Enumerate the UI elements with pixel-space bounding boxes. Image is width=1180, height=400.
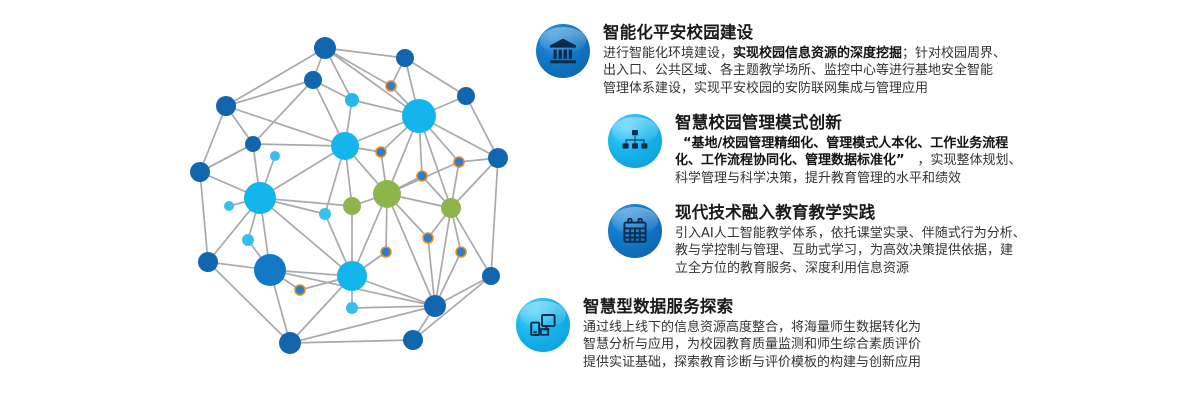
feature-body-line: 提供实证基础，探索教育诊断与评价模板的构建与创新应用 [583, 354, 921, 371]
graph-edge [352, 306, 435, 308]
graph-node [424, 295, 446, 317]
graph-node [386, 81, 396, 91]
graph-node [279, 332, 301, 354]
graph-node [314, 37, 336, 59]
feature-title: 现代技术融入教育教学实践 [675, 203, 1026, 223]
feature-body-line: “基地/校园管理精细化、管理模式人本化、工作业务流程 [675, 135, 1022, 152]
graph-node [295, 285, 305, 295]
graph-node [343, 197, 361, 215]
graph-node [381, 247, 391, 257]
graph-node [242, 234, 254, 246]
network-node-graph [180, 18, 510, 382]
graph-edge [290, 340, 413, 343]
graph-edge [387, 194, 435, 306]
feature-block-modern-technology[interactable]: 现代技术融入教育教学实践 引入AI人工智能教学体系，依托课堂实录、伴随式行为分析… [608, 202, 1026, 277]
graph-edge [200, 106, 226, 172]
graph-node [456, 247, 466, 257]
feature-text: 智能化平安校园建设 进行智能化环境建设，实现校园信息资源的深度挖掘；针对校园周界… [603, 22, 1006, 97]
graph-edge [405, 58, 466, 96]
feature-body-line: 出入口、公共区域、各主题教学场所、监控中心等进行基地安全智能 [603, 62, 1006, 79]
graph-node [198, 252, 218, 272]
graph-node [376, 147, 386, 157]
graph-node [396, 49, 414, 67]
graph-node [454, 157, 464, 167]
feature-body: 通过线上线下的信息资源高度整合，将海量师生数据转化为智慧分析与应用，为校园教育质… [583, 319, 921, 371]
feature-body: 引入AI人工智能教学体系，依托课堂实录、伴随式行为分析、教与学控制与管理、互助式… [675, 225, 1026, 277]
graph-node [244, 182, 276, 214]
feature-title: 智慧型数据服务探索 [583, 297, 921, 317]
graph-node [373, 180, 401, 208]
feature-body-line: 引入AI人工智能教学体系，依托课堂实录、伴随式行为分析、 [675, 225, 1026, 242]
graph-edge [451, 208, 491, 276]
calendar-icon [608, 204, 662, 258]
graph-node [331, 132, 359, 160]
feature-block-data-service[interactable]: 智慧型数据服务探索 通过线上线下的信息资源高度整合，将海量师生数据转化为智慧分析… [516, 296, 921, 371]
feature-body-line: 智慧分析与应用，为校园教育质量监测和师生综合素质评价 [583, 336, 921, 353]
graph-node [319, 208, 331, 220]
feature-body-line: 通过线上线下的信息资源高度整合，将海量师生数据转化为 [583, 319, 921, 336]
graph-node [482, 267, 500, 285]
feature-block-management-innovation[interactable]: 智慧校园管理模式创新 “基地/校园管理精细化、管理模式人本化、工作业务流程化、工… [608, 112, 1022, 187]
feature-text: 智慧校园管理模式创新 “基地/校园管理精细化、管理模式人本化、工作业务流程化、工… [675, 112, 1022, 187]
graph-node [345, 93, 359, 107]
graph-node [224, 201, 234, 211]
graph-node [337, 261, 367, 291]
feature-body-line: 管理体系建设，实现平安校园的安防联网集成与管理应用 [603, 80, 1006, 97]
feature-text: 现代技术融入教育教学实践 引入AI人工智能教学体系，依托课堂实录、伴随式行为分析… [675, 202, 1026, 277]
graph-node [488, 148, 508, 168]
feature-body-line: 科学管理与科学决策，提升教育管理的水平和绩效 [675, 170, 1022, 187]
org-chart-icon [608, 114, 662, 168]
feature-title: 智慧校园管理模式创新 [675, 113, 1022, 133]
graph-edge [226, 106, 345, 146]
graph-node [417, 171, 427, 181]
graph-node [216, 96, 236, 116]
graph-node [190, 162, 210, 182]
devices-screens-icon [516, 298, 570, 352]
feature-body-line: 教与学控制与管理、互助式学习，为高效决策提供依据，建 [675, 242, 1026, 259]
graph-node [457, 87, 475, 105]
graph-nodes [190, 37, 508, 354]
feature-body-line: 化、工作流程协同化、管理数据标准化” ，实现整体规划、 [675, 152, 1022, 169]
graph-edge [491, 158, 498, 276]
graph-node [403, 330, 423, 350]
feature-block-safe-campus[interactable]: 智能化平安校园建设 进行智能化环境建设，实现校园信息资源的深度挖掘；针对校园周界… [536, 22, 1006, 97]
graph-node [245, 136, 261, 152]
bank-building-icon [536, 24, 590, 78]
graph-node [423, 233, 433, 243]
graph-node [254, 254, 286, 286]
graph-node [346, 302, 358, 314]
feature-text: 智慧型数据服务探索 通过线上线下的信息资源高度整合，将海量师生数据转化为智慧分析… [583, 296, 921, 371]
feature-body-line: 立全方位的教育服务、深度利用信息资源 [675, 260, 1026, 277]
feature-title: 智能化平安校园建设 [603, 23, 1006, 43]
feature-body: “基地/校园管理精细化、管理模式人本化、工作业务流程化、工作流程协同化、管理数据… [675, 135, 1022, 187]
feature-body-line: 进行智能化环境建设，实现校园信息资源的深度挖掘；针对校园周界、 [603, 45, 1006, 62]
graph-node [402, 99, 436, 133]
feature-body: 进行智能化环境建设，实现校园信息资源的深度挖掘；针对校园周界、出入口、公共区域、… [603, 45, 1006, 97]
graph-node [304, 71, 322, 89]
graph-edge [200, 172, 208, 262]
graph-node [270, 151, 280, 161]
graph-node [441, 198, 461, 218]
